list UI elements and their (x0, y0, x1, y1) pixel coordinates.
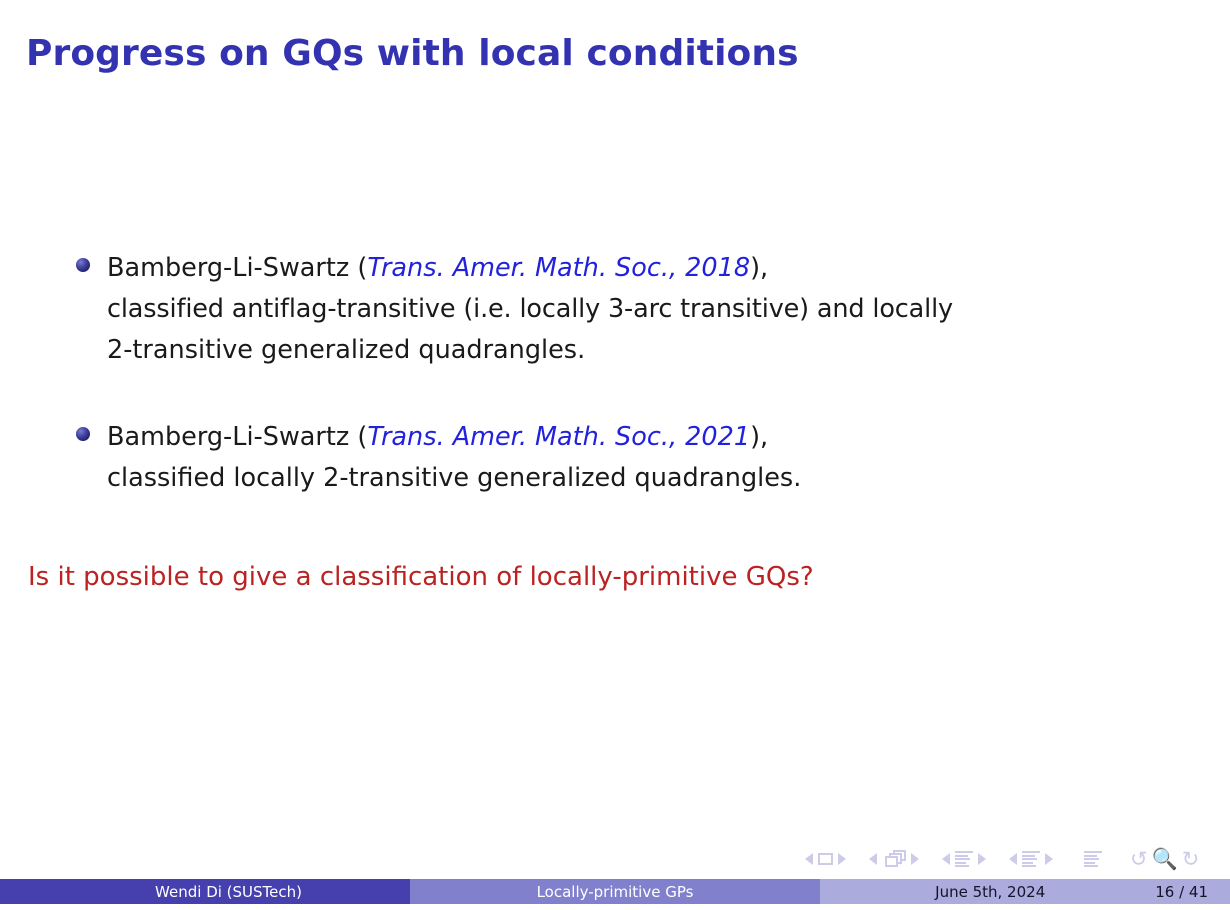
current-section-icon[interactable] (1022, 851, 1040, 867)
beamer-navigation-bar[interactable]: ↺ 🔍 ↻ (800, 844, 1220, 874)
footer-date: June 5th, 2024 (935, 883, 1045, 901)
subsection-navigation-group[interactable] (937, 851, 991, 867)
bullet-2-journal-reference: Trans. Amer. Math. Soc., 2021 (367, 422, 750, 452)
previous-subsection-icon[interactable] (942, 853, 950, 865)
back-icon[interactable]: ↺ (1130, 849, 1148, 870)
bullet-1-line-3: 2-transitive generalized quadrangles. (107, 330, 1230, 371)
presentation-slide: Progress on GQs with local conditions Ba… (0, 0, 1230, 910)
bullet-1-line-1: Bamberg-Li-Swartz (Trans. Amer. Math. So… (107, 248, 1230, 289)
bullet-1-line-2: classified antiflag-transitive (i.e. loc… (107, 289, 1230, 330)
previous-slide-icon[interactable] (805, 853, 813, 865)
filled-circle-bullet-icon (76, 427, 90, 441)
slide-body: Bamberg-Li-Swartz (Trans. Amer. Math. So… (0, 248, 1230, 525)
footer-page-number: 16 / 41 (1155, 883, 1208, 901)
list-item: Bamberg-Li-Swartz (Trans. Amer. Math. So… (0, 417, 1230, 499)
bullet-1-journal-reference: Trans. Amer. Math. Soc., 2018 (367, 253, 750, 283)
current-slide-icon[interactable] (818, 853, 833, 865)
frame-navigation-group[interactable] (864, 850, 924, 868)
bullet-2-citation-suffix: ), (750, 422, 768, 452)
bullet-2-line-1: Bamberg-Li-Swartz (Trans. Amer. Math. So… (107, 417, 1230, 458)
next-frame-icon[interactable] (911, 853, 919, 865)
contents-group[interactable] (1084, 851, 1102, 867)
section-navigation-group[interactable] (1004, 851, 1058, 867)
slide-footer: Wendi Di (SUSTech) Locally-primitive GPs… (0, 879, 1230, 904)
footer-presentation-title: Locally-primitive GPs (410, 879, 820, 904)
bullet-1-citation-suffix: ), (750, 253, 768, 283)
slide-title: Progress on GQs with local conditions (26, 32, 1206, 75)
previous-frame-icon[interactable] (869, 853, 877, 865)
footer-bottom-edge (0, 904, 1230, 910)
previous-section-icon[interactable] (1009, 853, 1017, 865)
next-subsection-icon[interactable] (978, 853, 986, 865)
footer-author: Wendi Di (SUSTech) (0, 879, 410, 904)
bullet-2-citation-prefix: Bamberg-Li-Swartz ( (107, 422, 367, 452)
alert-question-text: Is it possible to give a classification … (28, 559, 814, 595)
filled-circle-bullet-icon (76, 258, 90, 272)
current-subsection-icon[interactable] (955, 851, 973, 867)
table-of-contents-icon[interactable] (1084, 851, 1102, 867)
search-icon[interactable]: 🔍 (1152, 849, 1178, 870)
list-item: Bamberg-Li-Swartz (Trans. Amer. Math. So… (0, 248, 1230, 371)
history-navigation-group[interactable]: ↺ 🔍 ↻ (1128, 849, 1201, 870)
next-slide-icon[interactable] (838, 853, 846, 865)
next-section-icon[interactable] (1045, 853, 1053, 865)
bullet-2-line-2: classified locally 2-transitive generali… (107, 458, 1230, 499)
slide-navigation-group[interactable] (800, 853, 851, 865)
footer-date-and-page: June 5th, 2024 16 / 41 (820, 879, 1230, 904)
current-frame-icon[interactable] (882, 850, 906, 868)
forward-icon[interactable]: ↻ (1182, 849, 1200, 870)
bullet-1-citation-prefix: Bamberg-Li-Swartz ( (107, 253, 367, 283)
